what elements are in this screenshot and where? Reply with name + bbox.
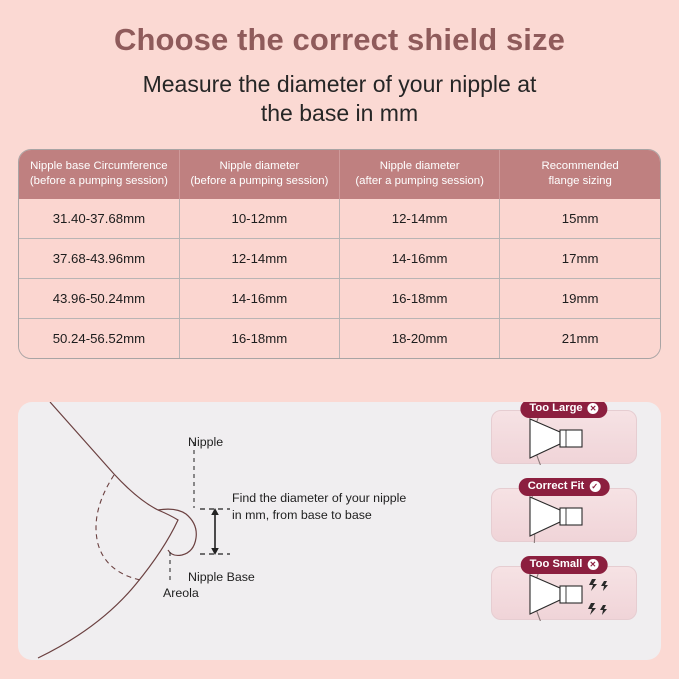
cell-diameter-after: 16-18mm (340, 278, 500, 318)
size-chart-table: Nipple base Circumference (before a pump… (19, 150, 660, 358)
fit-card-too-small[interactable]: Too Small ✕ (491, 566, 637, 620)
fit-card-too-large[interactable]: Too Large ✕ (491, 410, 637, 464)
flange-cone (530, 575, 560, 614)
cell-circumference: 43.96-50.24mm (19, 278, 179, 318)
cell-circumference: 31.40-37.68mm (19, 199, 179, 239)
badge-label: Too Small (530, 559, 583, 570)
nipple-outline-path (158, 509, 196, 555)
instruction-line-1: Find the diameter of your nipple (232, 491, 406, 505)
header-line-2: (before a pumping session) (190, 175, 328, 187)
flange-cone (530, 497, 560, 536)
instruction-line-2: in mm, from base to base (232, 508, 372, 522)
cell-flange-size: 19mm (500, 278, 660, 318)
cell-circumference: 37.68-43.96mm (19, 238, 179, 278)
header-line-1: Nipple diameter (219, 160, 299, 172)
cross-circle-icon: ✕ (588, 403, 599, 414)
size-chart-table-wrapper: Nipple base Circumference (before a pump… (18, 149, 661, 359)
page-subtitle: Measure the diameter of your nipple at t… (140, 70, 540, 129)
cell-diameter-before: 16-18mm (179, 318, 339, 358)
spark-icon (589, 579, 597, 591)
header-line-2: (before a pumping session) (30, 175, 168, 187)
cell-flange-size: 15mm (500, 199, 660, 239)
check-circle-icon: ✓ (589, 481, 600, 492)
table-head: Nipple base Circumference (before a pump… (19, 150, 660, 199)
column-header-nipple-base-circumference: Nipple base Circumference (before a pump… (19, 150, 179, 199)
cell-flange-size: 17mm (500, 238, 660, 278)
cell-diameter-after: 12-14mm (340, 199, 500, 239)
flange-tunnel (560, 430, 582, 447)
cell-diameter-before: 12-14mm (179, 238, 339, 278)
table-row: 50.24-56.52mm 16-18mm 18-20mm 21mm (19, 318, 660, 358)
column-header-nipple-diameter-after: Nipple diameter (after a pumping session… (340, 150, 500, 199)
header-line-2: (after a pumping session) (355, 175, 484, 187)
table-header-row: Nipple base Circumference (before a pump… (19, 150, 660, 199)
cell-diameter-after: 14-16mm (340, 238, 500, 278)
flange-illustration-correct-fit (492, 489, 636, 541)
label-nipple-base: Nipple Base (188, 570, 255, 584)
table-row: 43.96-50.24mm 14-16mm 16-18mm 19mm (19, 278, 660, 318)
table-body: 31.40-37.68mm 10-12mm 12-14mm 15mm 37.68… (19, 199, 660, 358)
flange-illustration-too-small (492, 567, 636, 619)
spark-icon (588, 603, 596, 615)
header-line-2: flange sizing (548, 175, 611, 187)
measurement-diagram-panel: Nipple Nipple Base Areola Find the diame… (18, 402, 661, 660)
cross-circle-icon: ✕ (587, 559, 598, 570)
cell-diameter-after: 18-20mm (340, 318, 500, 358)
spark-icon (600, 605, 607, 615)
page-title: Choose the correct shield size (0, 22, 679, 58)
header-line-1: Recommended (542, 160, 619, 172)
spark-icon (601, 581, 608, 591)
flange-tunnel (560, 586, 582, 603)
label-nipple: Nipple (188, 435, 223, 449)
flange-cone (530, 419, 560, 458)
fit-comparison-cards: Too Large ✕ Correct Fit ✓ (477, 410, 649, 620)
areola-dashed-path (96, 475, 140, 580)
header-line-1: Nipple diameter (380, 160, 460, 172)
cell-diameter-before: 14-16mm (179, 278, 339, 318)
table-row: 37.68-43.96mm 12-14mm 14-16mm 17mm (19, 238, 660, 278)
table-row: 31.40-37.68mm 10-12mm 12-14mm 15mm (19, 199, 660, 239)
cell-flange-size: 21mm (500, 318, 660, 358)
page-header: Choose the correct shield size Measure t… (0, 0, 679, 129)
column-header-recommended-flange-sizing: Recommended flange sizing (500, 150, 660, 199)
breast-outline-path (38, 402, 178, 658)
status-badge-too-large: Too Large ✕ (520, 402, 607, 418)
cell-circumference: 50.24-56.52mm (19, 318, 179, 358)
flange-tunnel (560, 508, 582, 525)
label-areola: Areola (163, 586, 199, 600)
status-badge-correct-fit: Correct Fit ✓ (519, 478, 610, 496)
column-header-nipple-diameter-before: Nipple diameter (before a pumping sessio… (179, 150, 339, 199)
measurement-instruction: Find the diameter of your nipple in mm, … (232, 490, 427, 523)
flange-illustration-too-large (492, 411, 636, 463)
fit-card-correct-fit[interactable]: Correct Fit ✓ (491, 488, 637, 542)
badge-label: Too Large (529, 403, 582, 414)
header-line-1: Nipple base Circumference (30, 160, 167, 172)
status-badge-too-small: Too Small ✕ (521, 556, 608, 574)
breast-anatomy-illustration (18, 402, 458, 660)
badge-label: Correct Fit (528, 481, 585, 492)
friction-spark-icons (588, 579, 608, 615)
cell-diameter-before: 10-12mm (179, 199, 339, 239)
